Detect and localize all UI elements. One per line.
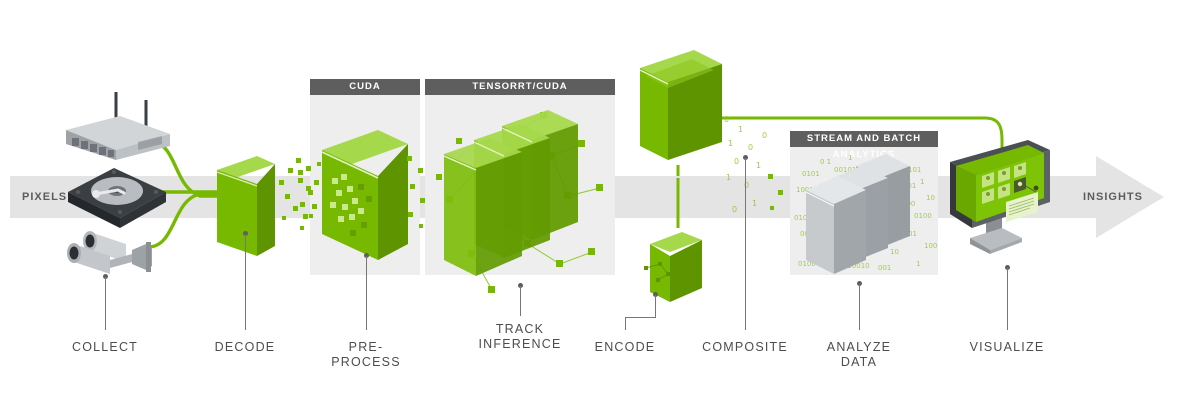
leader-line-decode [245, 234, 246, 330]
step-label-encode: ENCODE [575, 340, 675, 355]
svg-text:001: 001 [878, 264, 891, 272]
step-label-collect: COLLECT [55, 340, 155, 355]
svg-text:1: 1 [848, 154, 852, 162]
security-camera-icon [60, 222, 170, 284]
svg-text:100: 100 [924, 242, 937, 250]
leader-line-inference [520, 286, 521, 316]
svg-text:1: 1 [752, 199, 757, 208]
leader-line-encode-drop [625, 317, 626, 330]
router-icon [58, 86, 178, 166]
leader-line-preprocess [366, 256, 367, 330]
svg-text:1: 1 [916, 260, 920, 268]
leader-line-analyze [859, 284, 860, 330]
pipeline-diagram: PIXELS INSIGHTS CUDA TENSORRT/CUDA STREA… [0, 0, 1200, 412]
analytics-particles-left [766, 168, 790, 228]
step-label-decode: DECODE [195, 340, 295, 355]
step-label-preprocess: PRE-PROCESS [316, 340, 416, 370]
step-label-visualize: VISUALIZE [957, 340, 1057, 355]
analytics-server-stack: 0 110101 0010101101 100101010001 1100110… [790, 150, 940, 278]
pixels-label: PIXELS [22, 191, 67, 203]
panel-header-cuda: CUDA [310, 79, 420, 95]
leader-line-composite [745, 158, 746, 330]
svg-text:10: 10 [926, 194, 935, 202]
svg-text:0101: 0101 [802, 170, 820, 178]
svg-text:0: 0 [748, 143, 753, 152]
pre-process-particles-right [404, 150, 430, 240]
svg-text:0100: 0100 [914, 212, 932, 220]
leader-line-collect [105, 277, 106, 330]
pre-process-block [316, 118, 414, 268]
svg-text:1: 1 [738, 125, 743, 134]
svg-text:0 1: 0 1 [820, 158, 831, 166]
step-label-analyze: ANALYZE DATA [809, 340, 909, 370]
svg-text:1: 1 [756, 161, 761, 170]
svg-text:0: 0 [762, 131, 767, 140]
svg-text:1: 1 [920, 178, 924, 186]
monitor-icon [944, 140, 1056, 260]
svg-text:1: 1 [728, 139, 733, 148]
svg-text:10: 10 [890, 248, 899, 256]
svg-text:0: 0 [734, 157, 739, 166]
leader-line-visualize [1007, 268, 1008, 330]
panel-header-tensorrt: TENSORRT/CUDA [425, 79, 615, 95]
svg-text:0: 0 [732, 205, 737, 214]
composite-block [636, 46, 728, 182]
insights-label: INSIGHTS [1083, 191, 1143, 203]
leader-line-encode-vertical [655, 295, 656, 317]
step-label-composite: COMPOSITE [695, 340, 795, 355]
inference-block-stack [432, 104, 612, 300]
disk-drive-icon [62, 160, 172, 230]
panel-header-analytics: STREAM AND BATCH ANALYTICS [790, 131, 938, 147]
decode-block [213, 150, 279, 260]
svg-text:1: 1 [726, 173, 731, 182]
leader-line-encode-horizontal [625, 317, 656, 318]
pre-process-particles-left [296, 160, 318, 230]
svg-text:0: 0 [724, 115, 729, 124]
step-label-inference: TRACK INFERENCE [470, 322, 570, 352]
svg-text:101: 101 [908, 166, 921, 174]
